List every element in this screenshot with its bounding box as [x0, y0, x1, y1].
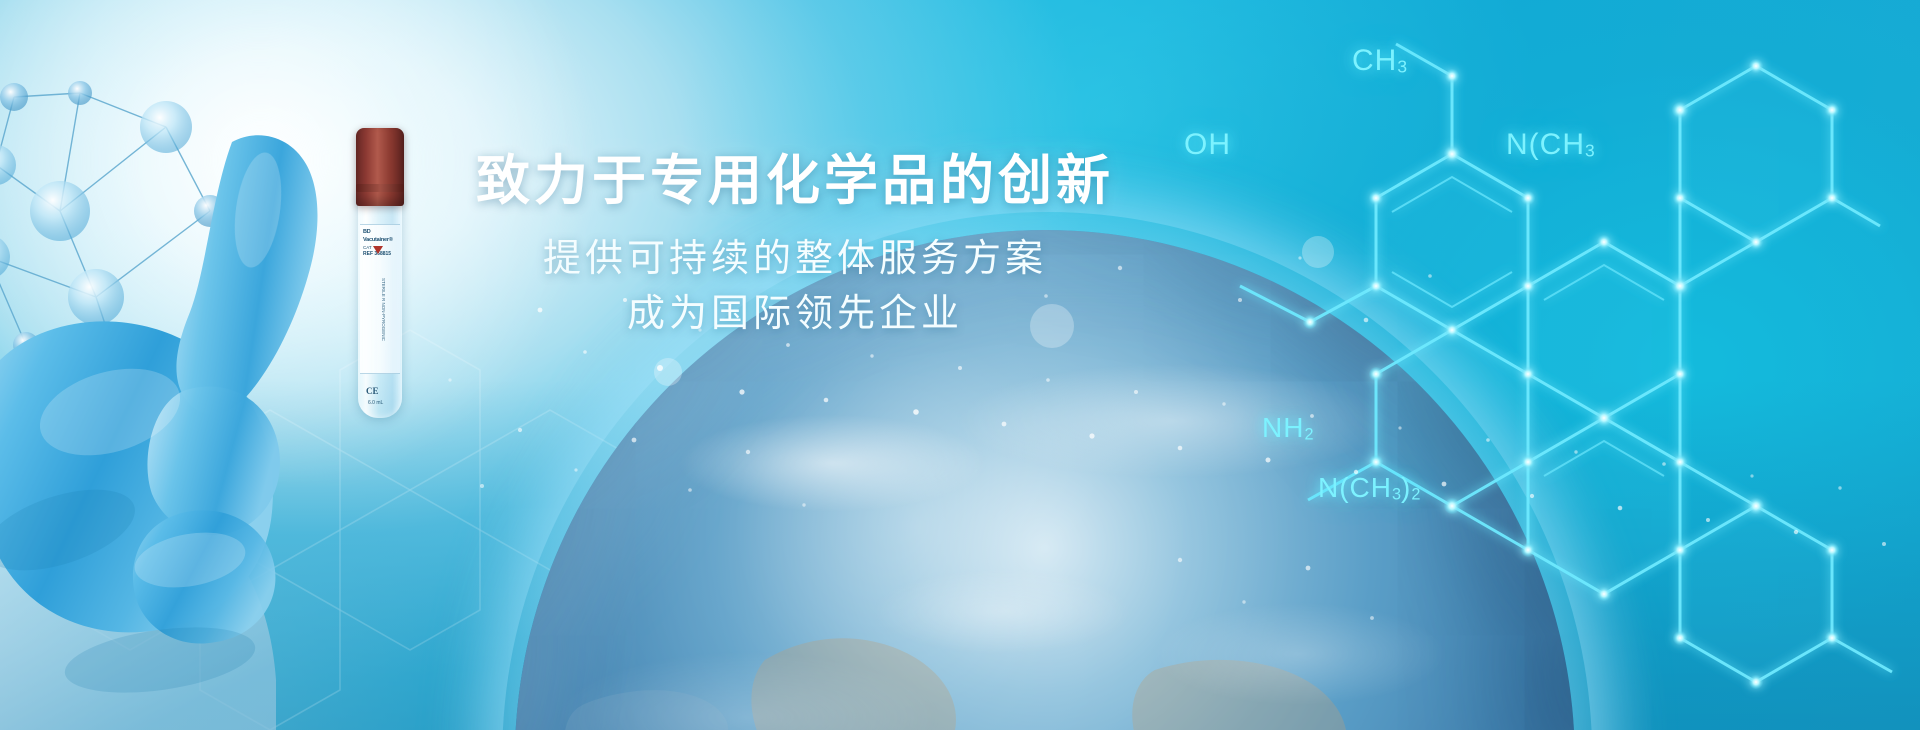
chem-label-nch3-bottom-close: )	[1401, 472, 1411, 503]
chem-label-nh2-sub: 2	[1304, 425, 1313, 443]
chem-label-nch3-top: N(CH3	[1506, 130, 1595, 160]
hexagonal-molecule-network-icon	[1180, 0, 1920, 730]
subtitle-line-2: 成为国际领先企业	[300, 287, 1290, 342]
chem-label-nch3-bottom-sub: 3	[1392, 485, 1401, 503]
tube-volume-text: 6.0 mL	[368, 400, 383, 407]
hero-banner: BD Vacutainer® CAT REF 368815 STERILE R …	[0, 0, 1920, 730]
chem-label-ch3-sub: 3	[1397, 57, 1407, 77]
chem-label-nch3-bottom-sub2: 2	[1411, 485, 1420, 503]
chem-label-nh2: NH2	[1262, 414, 1313, 443]
banner-copy: 致力于专用化学品的创新 提供可持续的整体服务方案 成为国际领先企业	[300, 150, 1290, 342]
chem-label-ch3: CH3	[1352, 46, 1407, 76]
chem-label-nh2-text: NH	[1262, 412, 1304, 443]
page-title: 致力于专用化学品的创新	[300, 150, 1290, 214]
chem-label-nch3-top-sub: 3	[1585, 141, 1595, 161]
chem-label-nch3-bottom-text: N(CH	[1318, 472, 1392, 503]
chem-label-nch3-bottom: N(CH3)2	[1318, 474, 1420, 503]
subtitle-line-1: 提供可持续的整体服务方案	[300, 232, 1290, 287]
tube-ce-mark: CE	[366, 386, 379, 396]
chem-label-nch3-top-text: N(CH	[1506, 128, 1585, 161]
chem-label-ch3-text: CH	[1352, 44, 1397, 77]
